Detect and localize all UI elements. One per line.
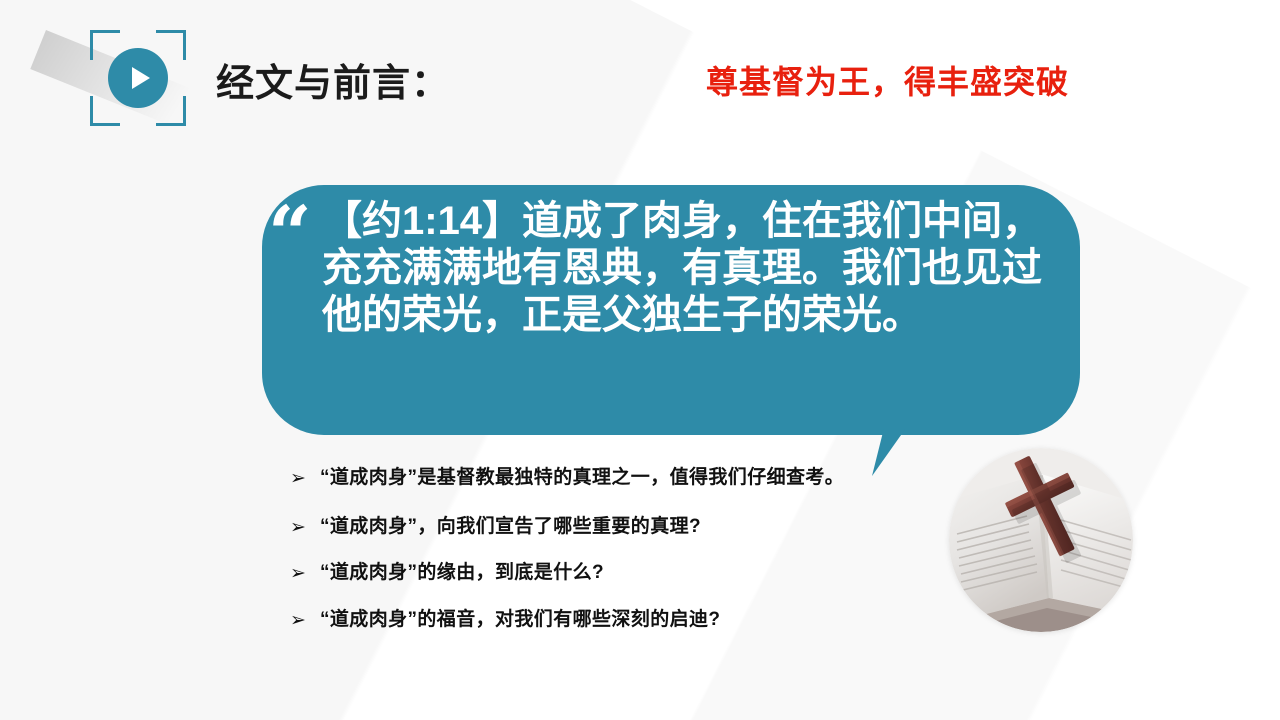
bible-cross-illustration xyxy=(949,448,1133,632)
list-item-label: “道成肉身”是基督教最独特的真理之一，值得我们仔细查考。 xyxy=(320,464,910,493)
arrow-bullet-icon: ➢ xyxy=(290,606,320,635)
list-item-label: “道成肉身”的福音，对我们有哪些深刻的启迪? xyxy=(320,606,910,635)
list-item: ➢ “道成肉身”的缘由，到底是什么? xyxy=(290,559,910,588)
list-item: ➢ “道成肉身”的福音，对我们有哪些深刻的启迪? xyxy=(290,606,910,635)
play-triangle-icon xyxy=(132,67,150,89)
quote-mark-icon: “ xyxy=(268,196,312,272)
page-title: 经文与前言： xyxy=(216,52,450,107)
arrow-bullet-icon: ➢ xyxy=(290,559,320,588)
logo-mark xyxy=(90,30,186,126)
page-subtitle: 尊基督为王，得丰盛突破 xyxy=(706,57,1069,103)
bible-cross-photo xyxy=(949,448,1133,632)
list-item-label: “道成肉身”的缘由，到底是什么? xyxy=(320,559,910,588)
list-item: ➢ “道成肉身”，向我们宣告了哪些重要的真理? xyxy=(290,513,910,542)
quote-text: 【约1:14】道成了肉身，住在我们中间，充充满满地有恩典，有真理。我们也见过他的… xyxy=(322,198,1062,338)
slide-canvas: 经文与前言： 尊基督为王，得丰盛突破 “ 【约1:14】道成了肉身，住在我们中间… xyxy=(0,0,1280,720)
play-button-icon[interactable] xyxy=(108,48,168,108)
list-item: ➢ “道成肉身”是基督教最独特的真理之一，值得我们仔细查考。 xyxy=(290,464,910,493)
bullet-list: ➢ “道成肉身”是基督教最独特的真理之一，值得我们仔细查考。 ➢ “道成肉身”，… xyxy=(290,464,910,652)
list-item-label: “道成肉身”，向我们宣告了哪些重要的真理? xyxy=(320,513,910,542)
arrow-bullet-icon: ➢ xyxy=(290,464,320,493)
arrow-bullet-icon: ➢ xyxy=(290,513,320,542)
